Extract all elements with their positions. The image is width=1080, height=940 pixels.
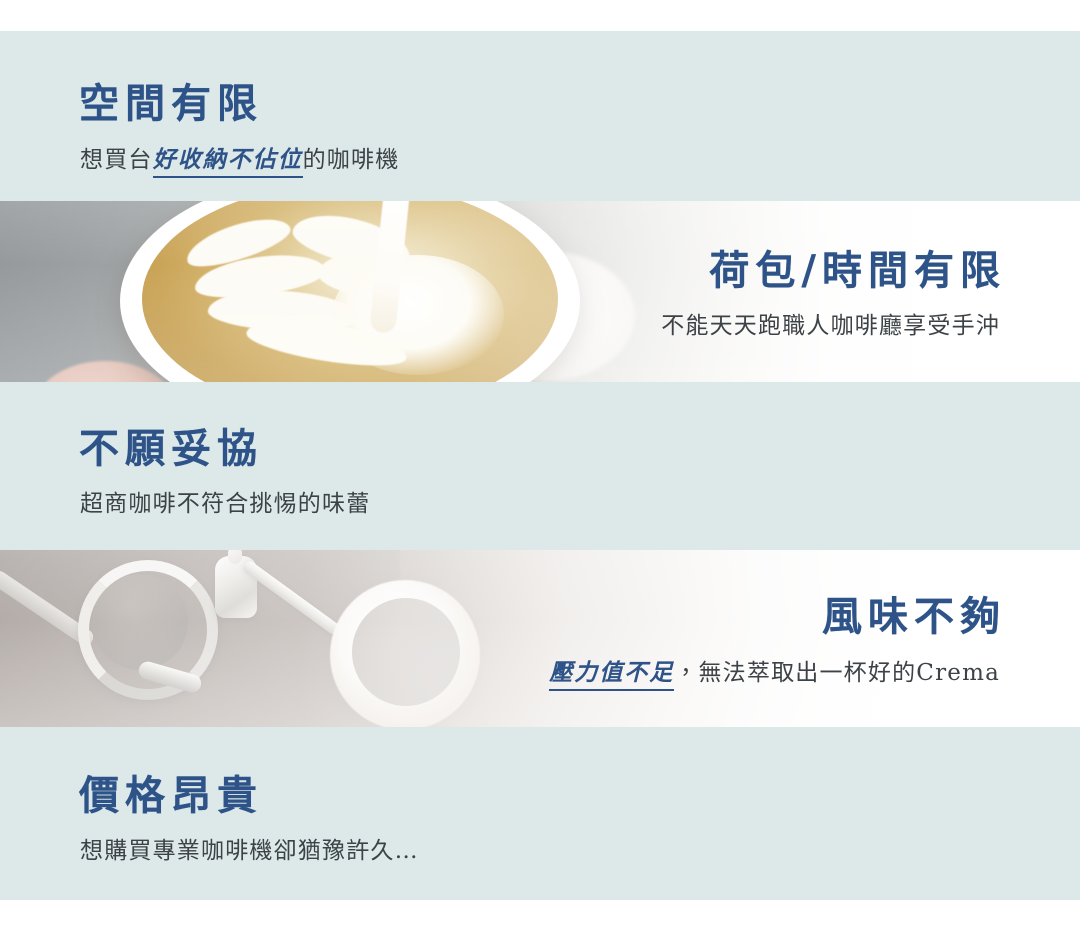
section-no-compromise: 不願妥協 超商咖啡不符合挑惕的味蕾 (0, 382, 1080, 550)
section-subline: 想購買專業咖啡機卻猶豫許久… (80, 837, 419, 867)
section-copy-block: 空間有限 想買台好收納不佔位的咖啡機 (80, 79, 399, 176)
section-subline: 壓力值不足，無法萃取出一杯好的Crema (549, 658, 1000, 689)
section-headline: 風味不夠 (549, 592, 1006, 642)
subline-prefix: 想買台 (80, 147, 153, 173)
subline-prefix: 超商咖啡不符合挑惕的味蕾 (80, 491, 370, 517)
section-headline: 價格昂貴 (79, 771, 419, 821)
subline-suffix: ，無法萃取出一杯好的Crema (674, 660, 1000, 686)
coffee-cup-interior (352, 598, 460, 706)
subline-suffix: 的咖啡機 (303, 147, 400, 173)
section-copy-block: 價格昂貴 想購買專業咖啡機卻猶豫許久… (80, 771, 419, 867)
section-space-limited: 空間有限 想買台好收納不佔位的咖啡機 (0, 31, 1080, 201)
section-headline: 空間有限 (79, 79, 399, 129)
section-subline: 想買台好收納不佔位的咖啡機 (80, 145, 399, 176)
section-flavor-not-enough: 風味不夠 壓力值不足，無法萃取出一杯好的Crema (0, 550, 1080, 727)
section-copy-block: 荷包/時間有限 不能天天跑職人咖啡廳享受手沖 (661, 246, 1000, 342)
section-expensive-price: 價格昂貴 想購買專業咖啡機卻猶豫許久… (0, 727, 1080, 900)
subline-accent-highlight: 好收納不佔位 (153, 146, 303, 178)
section-copy-block: 不願妥協 超商咖啡不符合挑惕的味蕾 (80, 424, 370, 520)
subline-prefix: 想購買專業咖啡機卻猶豫許久… (80, 838, 419, 864)
section-budget-time-limited: 荷包/時間有限 不能天天跑職人咖啡廳享受手沖 (0, 201, 1080, 382)
section-subline: 超商咖啡不符合挑惕的味蕾 (80, 490, 370, 520)
subline-prefix: 不能天天跑職人咖啡廳享受手沖 (661, 313, 1000, 339)
pain-point-list-page: 空間有限 想買台好收納不佔位的咖啡機 荷包/時間有限 (0, 0, 1080, 940)
section-headline: 荷包/時間有限 (661, 246, 1006, 296)
subline-accent-highlight: 壓力值不足 (549, 659, 674, 691)
steam-valve-knob (228, 550, 242, 564)
section-headline: 不願妥協 (79, 424, 370, 474)
latte-art-pattern (142, 201, 558, 382)
section-copy-block: 風味不夠 壓力值不足，無法萃取出一杯好的Crema (549, 592, 1000, 689)
section-subline: 不能天天跑職人咖啡廳享受手沖 (661, 312, 1000, 342)
